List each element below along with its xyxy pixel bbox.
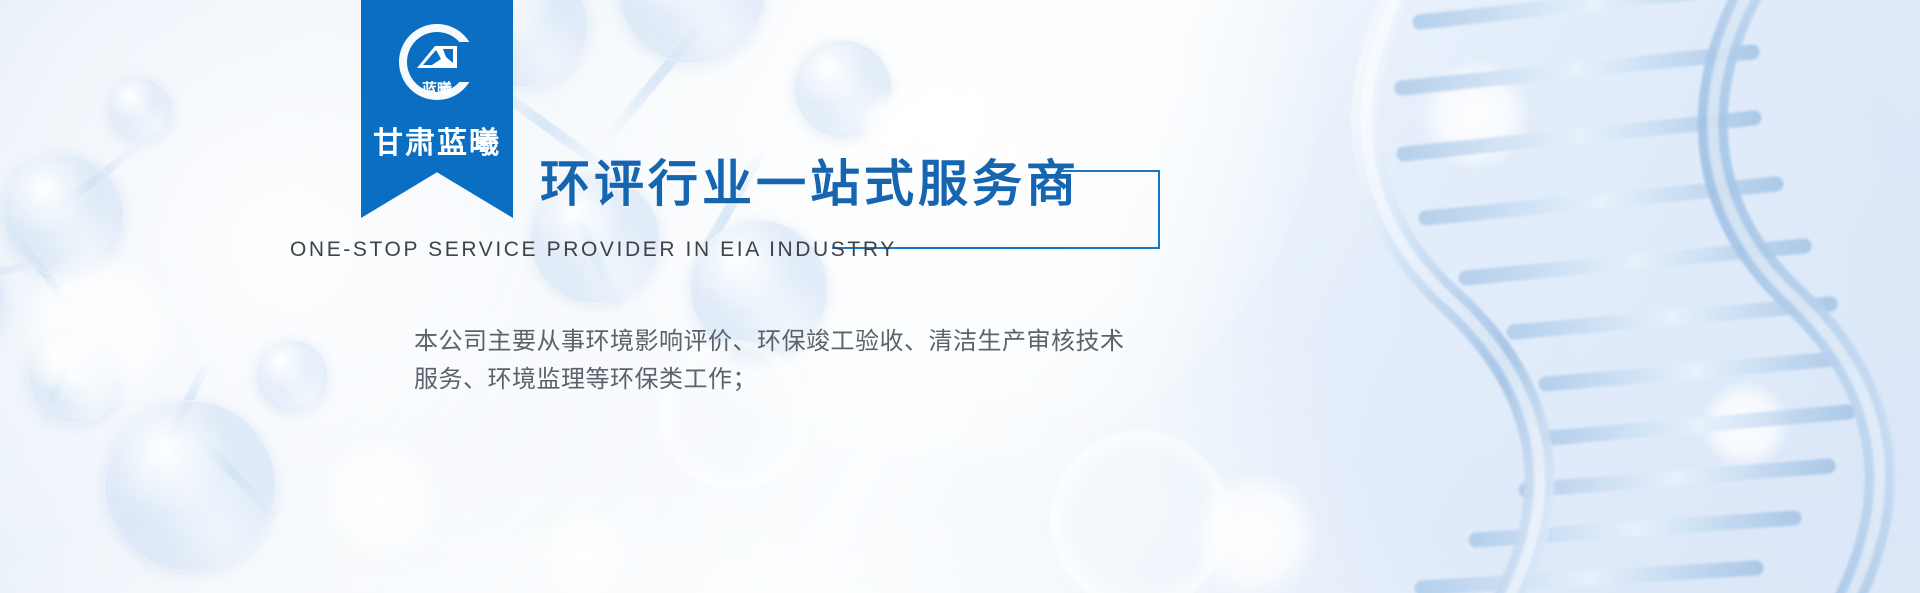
description-line: 本公司主要从事环境影响评价、环保竣工验收、清洁生产审核技术 bbox=[414, 322, 1125, 360]
connector-line-vertical bbox=[1158, 171, 1160, 249]
hero-banner: 蓝曦 甘肃蓝曦 环评行业一站式服务商 ONE-STOP SERVICE PROV… bbox=[0, 0, 1920, 593]
description-line: 服务、环境监理等环保类工作； bbox=[414, 360, 1125, 398]
page-subtitle: ONE-STOP SERVICE PROVIDER IN EIA INDUSTR… bbox=[290, 238, 897, 262]
ribbon-company-name: 甘肃蓝曦 bbox=[361, 118, 513, 162]
company-description: 本公司主要从事环境影响评价、环保竣工验收、清洁生产审核技术 服务、环境监理等环保… bbox=[414, 322, 1125, 398]
logo-wordmark: 蓝曦 bbox=[422, 80, 452, 98]
page-title: 环评行业一站式服务商 bbox=[540, 144, 1080, 216]
connector-line-top bbox=[1060, 170, 1160, 172]
company-logo-icon: 蓝曦 bbox=[361, 16, 513, 108]
